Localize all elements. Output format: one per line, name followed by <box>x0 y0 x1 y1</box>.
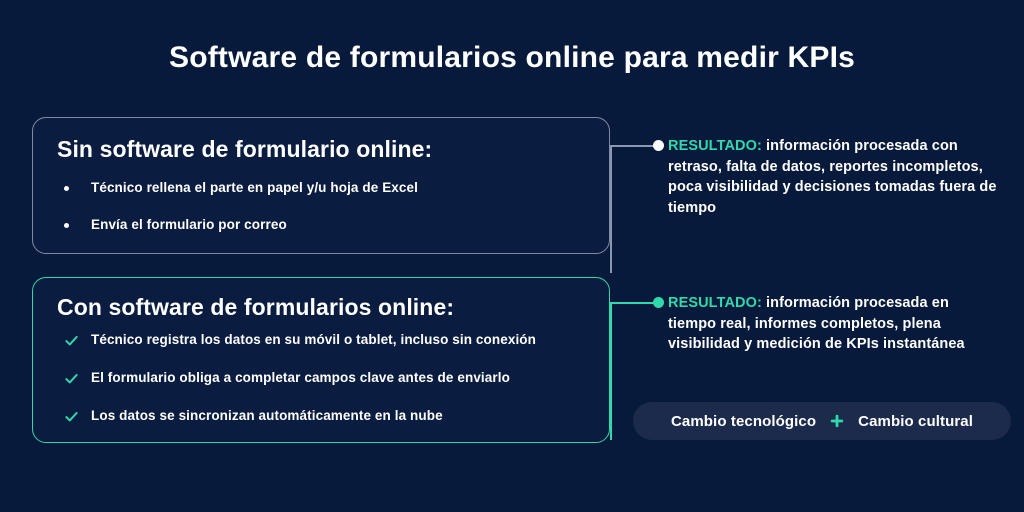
page-title: Software de formularios online para medi… <box>0 41 1024 75</box>
card-without-software: Sin software de formulario online: Técni… <box>32 117 610 254</box>
check-icon <box>57 370 91 386</box>
card-item-list: Técnico registra los datos en su móvil o… <box>57 332 595 446</box>
list-item-label: Envía el formulario por correo <box>91 217 595 233</box>
bullet-dot-icon <box>57 180 91 196</box>
result-without-software: RESULTADO: información procesada con ret… <box>668 136 998 218</box>
list-item-label: Los datos se sincronizan automáticamente… <box>91 408 595 424</box>
card-title: Sin software de formulario online: <box>57 136 432 163</box>
list-item-label: Técnico rellena el parte en papel y/u ho… <box>91 180 595 196</box>
connector-without-software <box>610 138 666 154</box>
result-with-software: RESULTADO: información procesada en tiem… <box>668 293 998 355</box>
card-with-software: Con software de formularios online: Técn… <box>32 277 610 443</box>
list-item-label: El formulario obliga a completar campos … <box>91 370 595 386</box>
card-item-list: Técnico rellena el parte en papel y/u ho… <box>57 180 595 254</box>
badge-right-label: Cambio cultural <box>858 413 973 430</box>
list-item: Técnico rellena el parte en papel y/u ho… <box>57 180 595 196</box>
connector-with-software <box>610 295 666 311</box>
list-item: Técnico registra los datos en su móvil o… <box>57 332 595 348</box>
list-item: Los datos se sincronizan automáticamente… <box>57 408 595 424</box>
connector-dot-icon <box>653 297 664 308</box>
infographic-canvas: Software de formularios online para medi… <box>0 0 1024 512</box>
check-icon <box>57 408 91 424</box>
result-label: RESULTADO: <box>668 295 762 311</box>
plus-icon <box>829 413 845 429</box>
list-item-label: Técnico registra los datos en su móvil o… <box>91 332 595 348</box>
result-label: RESULTADO: <box>668 138 762 154</box>
status-badge: Cambio tecnológico Cambio cultural <box>633 402 1011 440</box>
connector-dot-icon <box>653 140 664 151</box>
bullet-dot-icon <box>57 217 91 233</box>
card-title: Con software de formularios online: <box>57 294 454 321</box>
badge-left-label: Cambio tecnológico <box>671 413 816 430</box>
list-item: El formulario obliga a completar campos … <box>57 370 595 386</box>
check-icon <box>57 332 91 348</box>
list-item: Envía el formulario por correo <box>57 217 595 233</box>
